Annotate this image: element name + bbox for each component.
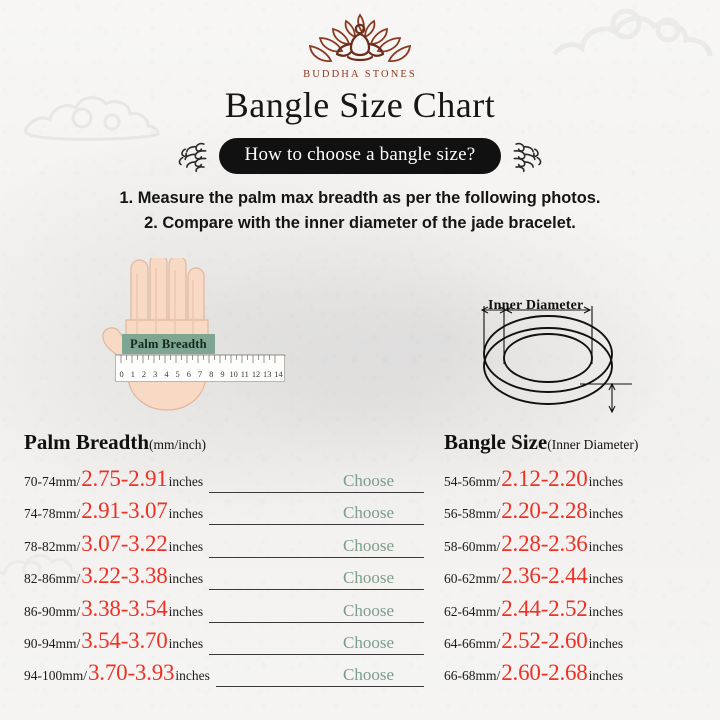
palm-mm: 90-94mm/ [24, 636, 80, 652]
bangle-ring-icon [462, 292, 642, 418]
bangle-unit: inches [589, 539, 624, 555]
table-row: 82-86mm/3.22-3.38inches Choose [24, 563, 424, 595]
table-row: 70-74mm/2.75-2.91inches Choose [24, 466, 424, 498]
table-row: 60-62mm/2.36-2.44inches [444, 563, 716, 595]
choose-link[interactable]: Choose [343, 503, 424, 523]
step-1: 1. Measure the palm max breadth as per t… [0, 186, 720, 211]
choose-field[interactable]: Choose [209, 536, 424, 558]
bangle-unit: inches [589, 506, 624, 522]
bangle-table-header: Bangle Size(Inner Diameter) [444, 430, 716, 455]
palm-breadth-table: Palm Breadth(mm/inch) 70-74mm/2.75-2.91i… [24, 430, 424, 693]
bangle-inches: 2.20-2.28 [500, 498, 588, 524]
palm-mm: 94-100mm/ [24, 668, 87, 684]
palm-mm: 74-78mm/ [24, 506, 80, 522]
palm-table-header: Palm Breadth(mm/inch) [24, 430, 424, 455]
table-row: 66-68mm/2.60-2.68inches [444, 660, 716, 692]
bangle-unit: inches [589, 474, 624, 490]
ruler-number: 9 [217, 370, 228, 379]
palm-inches: 3.38-3.54 [80, 596, 168, 622]
choose-link[interactable]: Choose [343, 665, 424, 685]
ruler-numbers: 0 1 2 3 4 5 6 7 8 9 10 11 12 13 14 [116, 366, 284, 382]
bangle-table-header-sub: (Inner Diameter) [547, 437, 638, 452]
cloud-swirl-ornament-icon [511, 139, 545, 173]
bangle-unit: inches [589, 636, 624, 652]
brand-name: BUDDHA STONES [303, 69, 417, 80]
choose-link[interactable]: Choose [343, 633, 424, 653]
bangle-unit: inches [589, 604, 624, 620]
palm-mm: 78-82mm/ [24, 539, 80, 555]
palm-inches: 3.22-3.38 [80, 563, 168, 589]
question-pill: How to choose a bangle size? [219, 138, 502, 174]
table-row: 64-66mm/2.52-2.60inches [444, 628, 716, 660]
choose-field[interactable]: Choose [216, 665, 424, 687]
bangle-inches: 2.28-2.36 [500, 531, 588, 557]
palm-inches: 2.75-2.91 [80, 466, 168, 492]
bangle-mm: 56-58mm/ [444, 506, 500, 522]
choose-field[interactable]: Choose [209, 601, 424, 623]
table-row: 56-58mm/2.20-2.28inches [444, 498, 716, 530]
ruler-number: 12 [250, 370, 261, 379]
palm-unit: inches [175, 668, 210, 684]
choose-link[interactable]: Choose [343, 601, 424, 621]
ruler-number: 5 [172, 370, 183, 379]
table-row: 74-78mm/2.91-3.07inches Choose [24, 498, 424, 530]
choose-field[interactable]: Choose [209, 568, 424, 590]
bangle-unit: inches [589, 571, 624, 587]
palm-breadth-label: Palm Breadth [122, 334, 215, 356]
question-banner: How to choose a bangle size? [0, 138, 720, 174]
brand-logo: BUDDHA STONES [0, 10, 720, 80]
ruler-number: 14 [273, 370, 284, 379]
table-row: 58-60mm/2.28-2.36inches [444, 531, 716, 563]
ruler-icon: 0 1 2 3 4 5 6 7 8 9 10 11 12 13 14 [115, 354, 285, 382]
palm-unit: inches [169, 506, 204, 522]
table-row: 62-64mm/2.44-2.52inches [444, 596, 716, 628]
palm-mm: 82-86mm/ [24, 571, 80, 587]
ruler-number: 0 [116, 370, 127, 379]
choose-field[interactable]: Choose [209, 471, 424, 493]
palm-table-header-main: Palm Breadth [24, 430, 149, 454]
bangle-mm: 66-68mm/ [444, 668, 500, 684]
size-chart-page: BUDDHA STONES Bangle Size Chart How to c… [0, 0, 720, 720]
palm-mm: 70-74mm/ [24, 474, 80, 490]
ruler-number: 1 [127, 370, 138, 379]
table-row: 54-56mm/2.12-2.20inches [444, 466, 716, 498]
choose-link[interactable]: Choose [343, 471, 424, 491]
choose-field[interactable]: Choose [209, 633, 424, 655]
palm-unit: inches [169, 474, 204, 490]
bangle-mm: 64-66mm/ [444, 636, 500, 652]
bangle-mm: 54-56mm/ [444, 474, 500, 490]
palm-unit: inches [169, 604, 204, 620]
bangle-inches: 2.52-2.60 [500, 628, 588, 654]
palm-inches: 3.07-3.22 [80, 531, 168, 557]
ruler-number: 2 [138, 370, 149, 379]
instruction-steps: 1. Measure the palm max breadth as per t… [0, 186, 720, 236]
choose-link[interactable]: Choose [343, 536, 424, 556]
palm-unit: inches [169, 636, 204, 652]
ruler-number: 10 [228, 370, 239, 379]
palm-table-header-sub: (mm/inch) [149, 437, 206, 452]
ruler-number: 8 [206, 370, 217, 379]
bangle-size-table: Bangle Size(Inner Diameter) 54-56mm/2.12… [444, 430, 716, 693]
ruler-number: 7 [194, 370, 205, 379]
table-row: 86-90mm/3.38-3.54inches Choose [24, 596, 424, 628]
table-row: 90-94mm/3.54-3.70inches Choose [24, 628, 424, 660]
ruler-number: 4 [161, 370, 172, 379]
bangle-table-header-main: Bangle Size [444, 430, 547, 454]
table-row: 78-82mm/3.07-3.22inches Choose [24, 531, 424, 563]
ruler-ticks [116, 355, 286, 366]
table-row: 94-100mm/3.70-3.93inches Choose [24, 660, 424, 692]
palm-unit: inches [169, 539, 204, 555]
bangle-inches: 2.44-2.52 [500, 596, 588, 622]
bangle-unit: inches [589, 668, 624, 684]
ruler-number: 6 [183, 370, 194, 379]
palm-inches: 2.91-3.07 [80, 498, 168, 524]
bangle-mm: 58-60mm/ [444, 539, 500, 555]
palm-inches: 3.54-3.70 [80, 628, 168, 654]
ruler-number: 3 [150, 370, 161, 379]
palm-unit: inches [169, 571, 204, 587]
step-2: 2. Compare with the inner diameter of th… [0, 211, 720, 236]
choose-field[interactable]: Choose [209, 503, 424, 525]
palm-inches: 3.70-3.93 [87, 660, 175, 686]
choose-link[interactable]: Choose [343, 568, 424, 588]
ruler-number: 13 [262, 370, 273, 379]
ruler-number: 11 [239, 370, 250, 379]
bangle-mm: 60-62mm/ [444, 571, 500, 587]
cloud-swirl-ornament-icon [175, 139, 209, 173]
bangle-mm: 62-64mm/ [444, 604, 500, 620]
bangle-inches: 2.36-2.44 [500, 563, 588, 589]
page-title: Bangle Size Chart [0, 84, 720, 126]
palm-mm: 86-90mm/ [24, 604, 80, 620]
bangle-inches: 2.12-2.20 [500, 466, 588, 492]
lotus-meditation-icon [300, 10, 420, 68]
bangle-inches: 2.60-2.68 [500, 660, 588, 686]
